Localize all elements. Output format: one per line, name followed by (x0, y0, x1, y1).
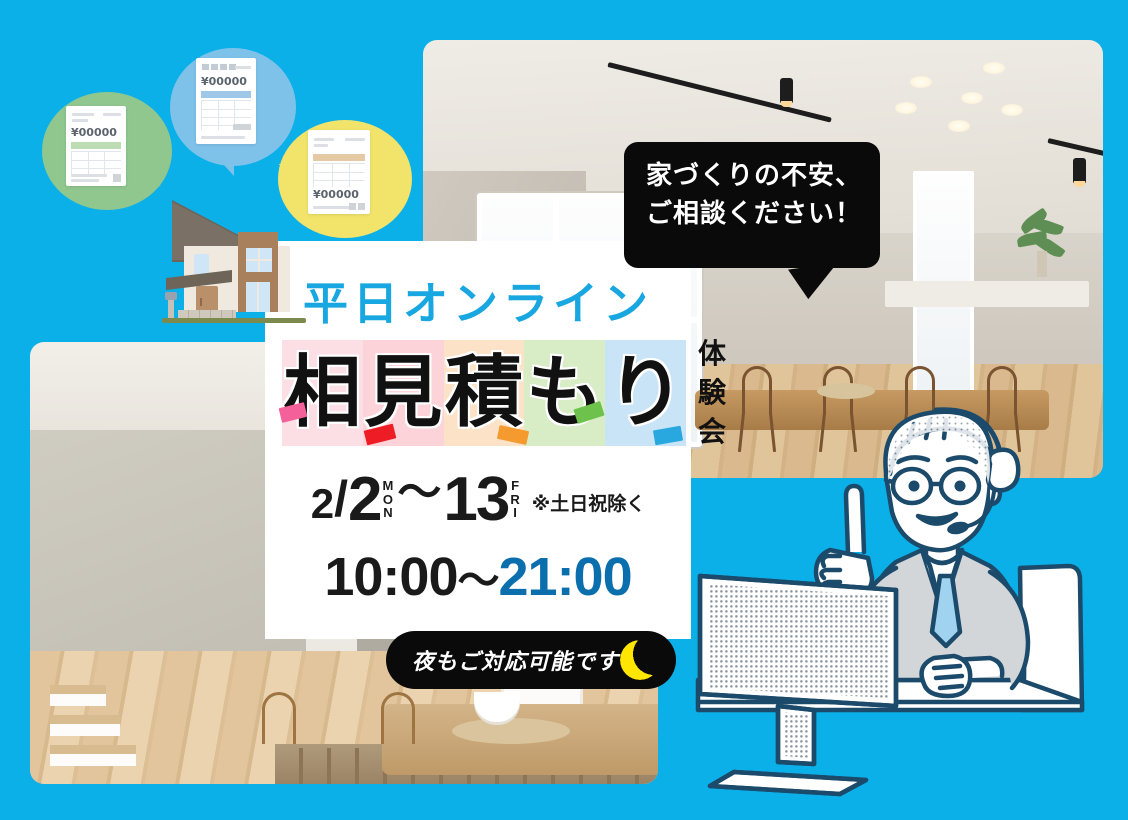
consult-speech-bubble: 家づくりの不安、 ご相談ください！ (624, 142, 880, 268)
bubble-line-2: ご相談ください！ (646, 196, 862, 234)
event-date-range: 2 / 2 M O N 〜 13 F R I ※土日祝除く (265, 456, 691, 528)
date-slash: / (334, 470, 348, 528)
estimate-sheet-yellow: ¥00000 (308, 130, 370, 214)
date-exclusion-note: ※土日祝除く (532, 489, 645, 516)
date-start-day: 2 (348, 471, 380, 528)
title-tile-3: も (524, 340, 605, 446)
house-icon (160, 188, 310, 320)
call-operator-illustration (690, 380, 1128, 800)
estimate-amount-green: ¥00000 (71, 126, 117, 139)
night-badge-label: 夜もご対応可能です！ (386, 644, 642, 676)
estimate-sheet-green: ¥00000 (66, 106, 126, 186)
title-suffix-0: 体 (698, 340, 726, 368)
weekday-letter: R (510, 493, 519, 507)
night-availability-badge: 夜もご対応可能です！ (386, 631, 676, 689)
event-time-range: 10:00〜21:00 (265, 546, 691, 608)
weekday-letter: N (383, 506, 392, 520)
title-tile-1: 見 (363, 340, 444, 446)
estimate-amount-blue: ¥00000 (201, 75, 247, 88)
title-tile-2: 積 (444, 340, 525, 446)
weekday-letter: I (513, 506, 517, 520)
date-start-weekday: M O N (383, 479, 394, 520)
date-end-day: 13 (443, 471, 508, 528)
main-title-tiles: 相 見 積 も り (282, 340, 686, 446)
house-and-estimates-illustration: ¥00000 ¥00000 (40, 40, 420, 320)
estimate-sheet-blue: ¥00000 (196, 58, 256, 144)
date-end-weekday: F R I (510, 479, 519, 520)
weekday-letter: M (383, 479, 394, 493)
title-tile-4: り (605, 340, 686, 446)
banner-stage: ¥00000 ¥00000 (0, 0, 1128, 820)
date-range-mark: 〜 (397, 456, 441, 520)
bubble-line-1: 家づくりの不安、 (646, 158, 862, 196)
estimate-amount-yellow: ¥00000 (313, 188, 359, 201)
title-char-3: も (524, 340, 605, 446)
date-month: 2 (311, 480, 334, 528)
weekday-letter: F (511, 479, 519, 493)
weekday-letter: O (383, 493, 393, 507)
title-tile-0: 相 (282, 340, 363, 446)
time-from: 10:00 (324, 547, 457, 607)
time-wave: 〜 (457, 557, 498, 604)
title-char-0: 相 (282, 340, 363, 446)
crescent-moon-icon (620, 640, 660, 680)
time-to: 21:00 (499, 547, 632, 607)
